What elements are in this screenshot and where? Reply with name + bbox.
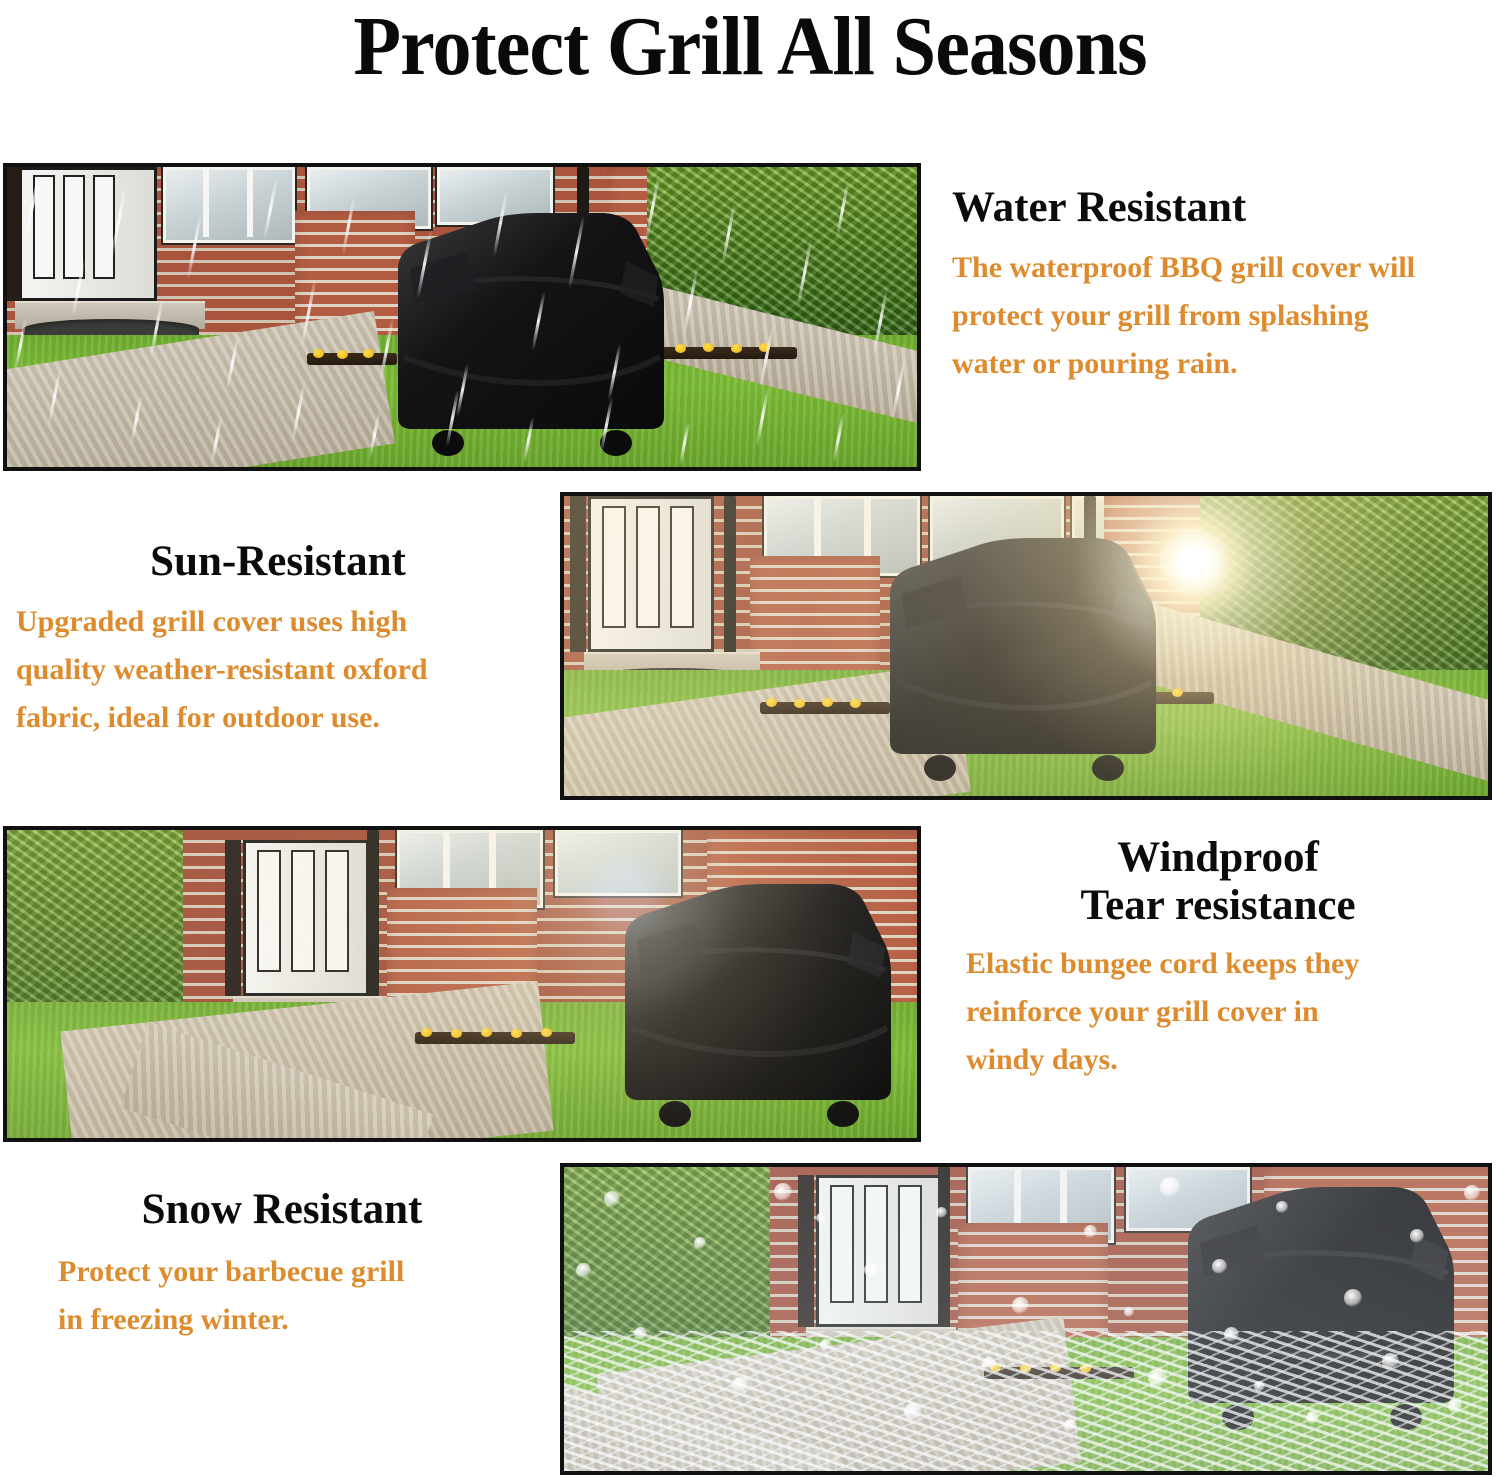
feature-heading-sun-resistant: Sun-Resistant [16,538,540,586]
flower [766,698,777,707]
door-glass-panel [291,850,315,972]
feature-text-snow-resistant: Snow Resistant Protect your barbecue gri… [22,1186,542,1344]
flower [990,1363,1001,1372]
scene-wind [7,830,917,1138]
feature-body-water-resistant: The waterproof BBQ grill cover will prot… [952,244,1492,388]
door-glass-panel [33,175,55,279]
feature-heading-snow-resistant: Snow Resistant [22,1186,542,1234]
flower [481,1028,492,1037]
door-glass-panel [257,850,281,972]
door-glass-panel [636,506,660,628]
window-mullion [203,167,209,237]
window-mullion [247,167,253,237]
door-glass-panel [63,175,85,279]
product-feature-page: Protect Grill All Seasons [0,0,1500,1478]
feature-text-windproof: Windproof Tear resistance Elastic bungee… [948,834,1488,1084]
flower [541,1028,552,1037]
grill-cover [1180,1181,1470,1431]
flower [421,1028,432,1037]
grill-cover [390,207,680,457]
feature-image-water-resistant [3,163,921,471]
feature-body-windproof: Elastic bungee cord keeps they reinforce… [948,940,1488,1084]
feature-text-water-resistant: Water Resistant The waterproof BBQ grill… [952,184,1492,388]
scene-snow [564,1167,1488,1471]
grill-cover [617,878,907,1128]
flower [703,343,714,352]
flower [822,698,833,707]
door-glass-panel [670,506,694,628]
door-glass-panel [864,1185,888,1303]
feature-image-windproof [3,826,921,1142]
door-glass-panel [602,506,626,628]
grill-cover [882,532,1172,782]
flower [313,349,324,358]
scene-rain [7,167,917,467]
feature-body-snow-resistant: Protect your barbecue grill in freezing … [22,1248,542,1344]
house-window [163,167,295,243]
feature-heading-windproof: Windproof Tear resistance [948,834,1488,930]
door-recess [570,496,586,652]
flower [794,699,805,708]
flower [511,1029,522,1038]
door-recess [225,840,241,996]
flower [1050,1363,1061,1372]
flower [1172,688,1183,697]
door-glass-panel [325,850,349,972]
flower [451,1029,462,1038]
feature-body-sun-resistant: Upgraded grill cover uses high quality w… [16,598,540,742]
door-recess [7,167,21,301]
flower [731,344,742,353]
flower [337,350,348,359]
door-recess [798,1175,814,1327]
flower [1020,1364,1031,1373]
flower [1080,1364,1091,1373]
flower [850,699,861,708]
feature-text-sun-resistant: Sun-Resistant Upgraded grill cover uses … [16,538,540,742]
feature-heading-water-resistant: Water Resistant [952,184,1492,232]
feature-image-sun-resistant [560,492,1492,800]
flower [363,349,374,358]
door-glass-panel [898,1185,922,1303]
flower [759,343,770,352]
feature-image-snow-resistant [560,1163,1492,1475]
scene-sun [564,496,1488,796]
door-glass-panel [830,1185,854,1303]
door-glass-panel [93,175,115,279]
page-title: Protect Grill All Seasons [53,2,1448,92]
